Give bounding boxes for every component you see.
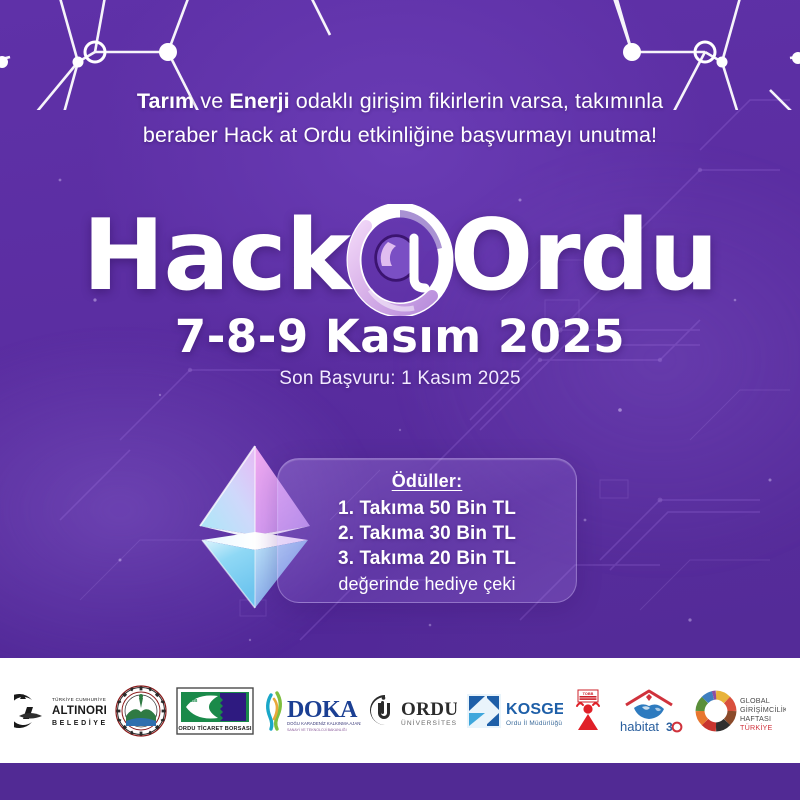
title-word-ordu: Ordu <box>450 207 718 305</box>
prizes-panel: Ödüller: 1. Takıma 50 Bin TL 2. Takıma 3… <box>277 458 577 603</box>
headline-line-2: beraber Hack at Ordu etkinliğine başvurm… <box>143 123 657 147</box>
svg-text:DOĞU KARADENİZ KALKINMA AJANSI: DOĞU KARADENİZ KALKINMA AJANSI <box>287 721 361 726</box>
bottom-purple-strip <box>0 763 800 800</box>
prizes-note: değerinde hediye çeki <box>278 571 576 597</box>
sponsor-logo-ordu-universitesi: ORDU ÜNİVERSİTESİ <box>369 689 457 733</box>
svg-text:ÜNİVERSİTESİ: ÜNİVERSİTESİ <box>401 718 457 727</box>
svg-text:Ordu İl Müdürlüğü: Ordu İl Müdürlüğü <box>506 718 562 727</box>
svg-text:TOBB: TOBB <box>185 698 197 703</box>
prize-item-1: 1. Takıma 50 Bin TL <box>278 496 576 521</box>
svg-text:GİRİŞİMCİLİK: GİRİŞİMCİLİK <box>740 705 786 714</box>
sponsor-logo-kosgeb: KOSGEB Ordu İl Müdürlüğü <box>465 688 563 734</box>
headline-bold-tarim: Tarım <box>137 89 194 113</box>
svg-text:KOSGEB: KOSGEB <box>506 701 563 718</box>
svg-text:BELEDİYESİ: BELEDİYESİ <box>52 719 106 727</box>
headline-text: Tarım ve Enerji odaklı girişim fikirleri… <box>0 84 800 152</box>
event-dates: 7-8-9 Kasım 2025 <box>0 310 800 363</box>
application-deadline: Son Başvuru: 1 Kasım 2025 <box>0 368 800 390</box>
svg-text:TÜRKİYE: TÜRKİYE <box>740 723 773 732</box>
at-symbol-icon <box>346 204 454 316</box>
svg-text:HAFTASI: HAFTASI <box>740 714 771 723</box>
poster-root: Tarım ve Enerji odaklı girişim fikirleri… <box>0 0 800 800</box>
svg-text:ALTINORDU: ALTINORDU <box>52 705 106 717</box>
svg-text:ORDU TİCARET BORSASI: ORDU TİCARET BORSASI <box>178 725 252 732</box>
svg-text:DOKA: DOKA <box>287 697 358 723</box>
svg-text:TÜRKİYE CUMHURİYETİ: TÜRKİYE CUMHURİYETİ <box>52 696 106 702</box>
headline-line-1: Tarım ve Enerji odaklı girişim fikirleri… <box>137 89 663 113</box>
headline-bold-enerji: Enerji <box>229 89 289 113</box>
sponsor-logo-doka: DOKA DOĞU KARADENİZ KALKINMA AJANSI SANA… <box>261 687 361 735</box>
headline-connector: ve <box>194 89 229 113</box>
sponsor-logo-global-girisimcilik-haftasi: GLOBAL GİRİŞİMCİLİK HAFTASI TÜRKİYE <box>694 687 786 735</box>
headline-rest: odaklı girişim fikirlerin varsa, takımın… <box>290 89 664 113</box>
prize-item-2: 2. Takıma 30 Bin TL <box>278 521 576 546</box>
sponsor-logo-altinordu-belediyesi: TÜRKİYE CUMHURİYETİ ALTINORDU BELEDİYESİ <box>14 688 106 734</box>
title-word-hack: Hack <box>83 207 350 305</box>
sponsor-logo-bar: TÜRKİYE CUMHURİYETİ ALTINORDU BELEDİYESİ <box>0 658 800 763</box>
prize-item-3: 3. Takıma 20 Bin TL <box>278 546 576 571</box>
svg-text:SANAYİ VE TEKNOLOJİ BAKANLIĞI: SANAYİ VE TEKNOLOJİ BAKANLIĞI <box>287 727 347 732</box>
sponsor-logo-ordu-ticaret-borsasi: TOBB ORDU TİCARET BORSASI <box>176 687 254 735</box>
event-title: Hack <box>0 196 800 316</box>
prizes-title: Ödüller: <box>278 471 576 492</box>
sponsor-logo-habitat: habitat 3 <box>612 688 686 734</box>
sponsor-logo-ordu-ticaret-ve-sanayi-odasi <box>114 684 168 738</box>
svg-text:ORDU: ORDU <box>401 699 457 720</box>
svg-text:TOBB: TOBB <box>582 692 593 696</box>
svg-text:GLOBAL: GLOBAL <box>740 696 770 705</box>
svg-text:habitat: habitat <box>620 719 659 734</box>
sponsor-logo-tobb-genc-girisimciler: TOBB <box>571 687 605 735</box>
